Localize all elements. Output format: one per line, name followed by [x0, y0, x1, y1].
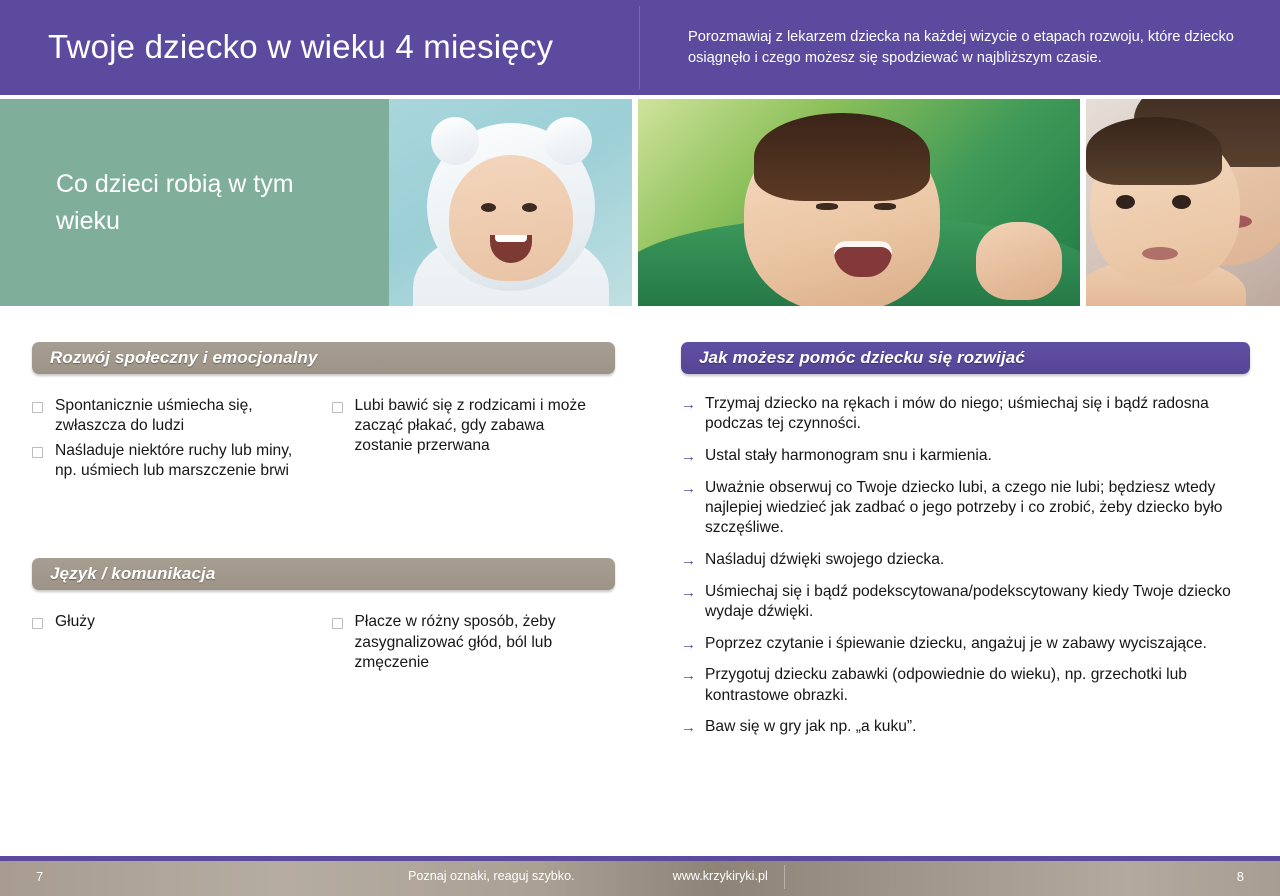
section-header-label: Rozwój społeczny i emocjonalny — [50, 348, 318, 368]
checklist-item[interactable]: Lubi bawić się z rodzicami i może zacząć… — [332, 396, 602, 456]
arrow-right-icon: → — [681, 582, 705, 623]
arrow-right-icon: → — [681, 394, 705, 435]
arrow-right-icon: → — [681, 478, 705, 539]
list-item: → Trzymaj dziecko na rękach i mów do nie… — [681, 394, 1250, 435]
list-item: → Ustal stały harmonogram snu i karmieni… — [681, 446, 1250, 467]
footer-tagline: Poznaj oznaki, reaguj szybko. — [408, 869, 575, 883]
section-header-label: Jak możesz pomóc dziecku się rozwijać — [699, 348, 1025, 368]
arrow-right-icon: → — [681, 717, 705, 738]
checkbox-icon[interactable] — [32, 618, 43, 629]
checklist-item[interactable]: Głuży — [32, 612, 310, 632]
footer-website[interactable]: www.krzykiryki.pl — [673, 869, 768, 883]
checklist-item[interactable]: Naśladuje niektóre ruchy lub miny, np. u… — [32, 441, 310, 481]
right-column: Jak możesz pomóc dziecku się rozwijać → … — [645, 306, 1280, 856]
page-number-right: 8 — [1232, 869, 1280, 884]
checkbox-icon[interactable] — [32, 402, 43, 413]
checklist-language: Głuży Płacze w różny sposób, żeby zasygn… — [32, 612, 615, 677]
arrow-right-icon: → — [681, 550, 705, 571]
checkbox-icon[interactable] — [332, 402, 343, 413]
photo-smiling-baby-bear-hood — [389, 99, 633, 306]
arrow-right-icon: → — [681, 446, 705, 467]
image-band: Co dzieci robią w tym wieku — [0, 99, 1280, 306]
arrow-right-icon: → — [681, 634, 705, 655]
checklist-column-two: Płacze w różny sposób, żeby zasygnalizow… — [324, 612, 616, 677]
checklist-social-emotional: Spontanicznie uśmiecha się, zwłaszcza do… — [32, 396, 615, 486]
content-area: Rozwój społeczny i emocjonalny Spontanic… — [0, 306, 1280, 856]
checkbox-icon[interactable] — [32, 447, 43, 458]
list-item-label: Przygotuj dziecku zabawki (odpowiednie d… — [705, 665, 1250, 706]
page-header: Twoje dziecko w wieku 4 miesięcy Porozma… — [0, 0, 1280, 95]
checklist-item-label: Lubi bawić się z rodzicami i może zacząć… — [355, 396, 602, 456]
header-subtitle: Porozmawiaj z lekarzem dziecka na każdej… — [688, 27, 1246, 68]
header-left: Twoje dziecko w wieku 4 miesięcy — [0, 0, 640, 95]
photo-mother-holding-baby — [1086, 99, 1280, 306]
page-number-left: 7 — [0, 869, 48, 884]
list-item: → Uśmiechaj się i bądź podekscytowana/po… — [681, 582, 1250, 623]
list-item-label: Trzymaj dziecko na rękach i mów do niego… — [705, 394, 1250, 435]
left-column: Rozwój społeczny i emocjonalny Spontanic… — [0, 306, 645, 856]
section-header-social-emotional: Rozwój społeczny i emocjonalny — [32, 342, 615, 374]
tips-list: → Trzymaj dziecko na rękach i mów do nie… — [681, 394, 1250, 738]
checklist-item[interactable]: Spontanicznie uśmiecha się, zwłaszcza do… — [32, 396, 310, 436]
list-item-label: Uśmiechaj się i bądź podekscytowana/pode… — [705, 582, 1250, 623]
list-item: → Przygotuj dziecku zabawki (odpowiednie… — [681, 665, 1250, 706]
arrow-right-icon: → — [681, 665, 705, 706]
checklist-column-two: Lubi bawić się z rodzicami i może zacząć… — [324, 396, 616, 486]
page-root: Twoje dziecko w wieku 4 miesięcy Porozma… — [0, 0, 1280, 896]
list-item: → Naśladuj dźwięki swojego dziecka. — [681, 550, 1250, 571]
checklist-item-label: Płacze w różny sposób, żeby zasygnalizow… — [355, 612, 602, 672]
list-item-label: Poprzez czytanie i śpiewanie dziecku, an… — [705, 634, 1207, 655]
list-item-label: Ustal stały harmonogram snu i karmienia. — [705, 446, 992, 467]
checklist-item[interactable]: Płacze w różny sposób, żeby zasygnalizow… — [332, 612, 602, 672]
checkbox-icon[interactable] — [332, 618, 343, 629]
list-item-label: Baw się w gry jak np. „a kuku”. — [705, 717, 916, 738]
list-item-label: Uważnie obserwuj co Twoje dziecko lubi, … — [705, 478, 1250, 539]
band-heading: Co dzieci robią w tym wieku — [56, 166, 357, 239]
checklist-item-label: Spontanicznie uśmiecha się, zwłaszcza do… — [55, 396, 310, 436]
photo-baby-in-green-bath — [638, 99, 1080, 306]
checklist-item-label: Głuży — [55, 612, 95, 632]
page-footer: 7 Poznaj oznaki, reaguj szybko. www.krzy… — [0, 856, 1280, 896]
checklist-column-one: Spontanicznie uśmiecha się, zwłaszcza do… — [32, 396, 324, 486]
footer-divider — [784, 865, 785, 889]
section-header-language: Język / komunikacja — [32, 558, 615, 590]
footer-center: Poznaj oznaki, reaguj szybko. www.krzyki… — [408, 869, 768, 883]
page-title: Twoje dziecko w wieku 4 miesięcy — [48, 29, 553, 65]
band-green-panel: Co dzieci robią w tym wieku — [0, 99, 397, 306]
list-item: → Uważnie obserwuj co Twoje dziecko lubi… — [681, 478, 1250, 539]
header-right: Porozmawiaj z lekarzem dziecka na każdej… — [640, 0, 1280, 95]
list-item-label: Naśladuj dźwięki swojego dziecka. — [705, 550, 944, 571]
list-item: → Poprzez czytanie i śpiewanie dziecku, … — [681, 634, 1250, 655]
list-item: → Baw się w gry jak np. „a kuku”. — [681, 717, 1250, 738]
checklist-item-label: Naśladuje niektóre ruchy lub miny, np. u… — [55, 441, 310, 481]
section-header-label: Język / komunikacja — [50, 564, 215, 584]
section-header-how-to-help: Jak możesz pomóc dziecku się rozwijać — [681, 342, 1250, 374]
checklist-column-one: Głuży — [32, 612, 324, 677]
